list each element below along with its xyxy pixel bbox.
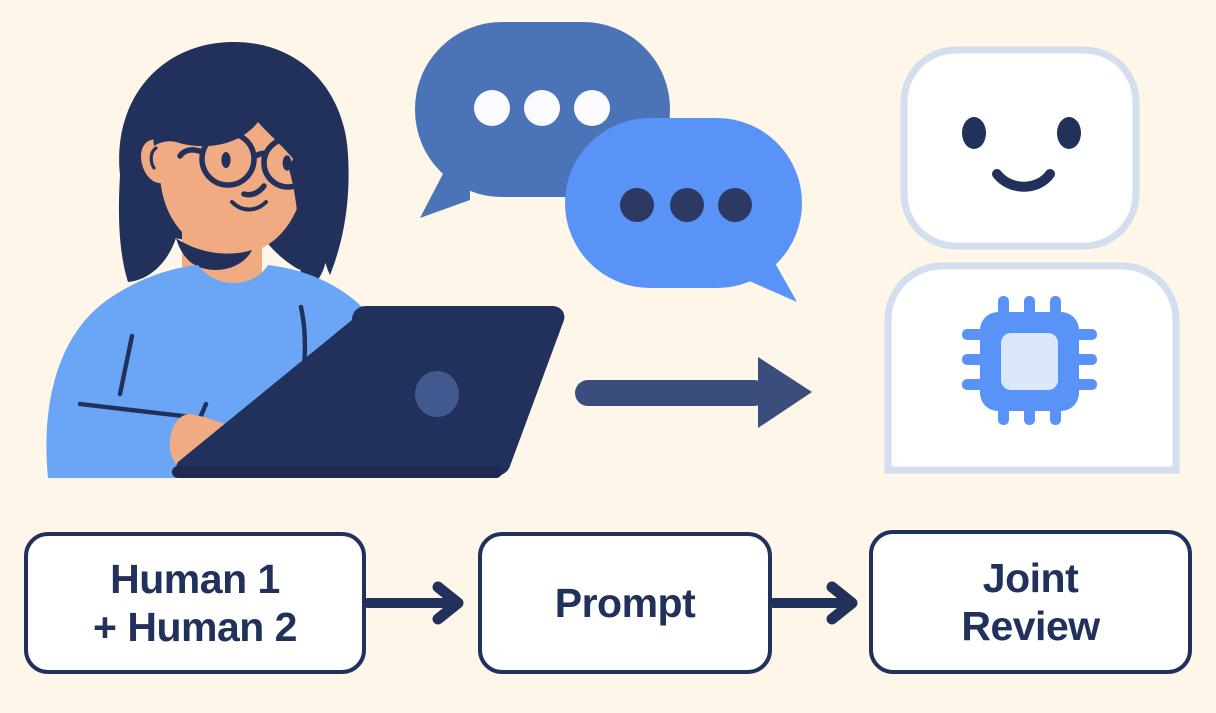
eye-right — [283, 155, 292, 170]
arrow-human-to-prompt — [366, 580, 478, 626]
flow-box-review[interactable]: Joint Review — [869, 530, 1192, 674]
flow-box-review-label: Joint Review — [961, 554, 1099, 651]
speech-dot — [670, 188, 704, 222]
arrow-shaft — [575, 380, 767, 406]
speech-dot — [524, 90, 560, 126]
laptop-base — [172, 466, 502, 478]
laptop-logo — [415, 371, 459, 417]
speech-dot — [574, 90, 610, 126]
flow-box-prompt-label: Prompt — [555, 579, 696, 627]
robot-face-card-frame — [904, 50, 1136, 246]
chip-card — [888, 266, 1176, 470]
flow-box-prompt[interactable]: Prompt — [478, 532, 772, 674]
eye-left — [221, 152, 230, 168]
flow-box-human[interactable]: Human 1 + Human 2 — [24, 532, 366, 674]
robot-eye-right — [1057, 117, 1081, 149]
arrow-prompt-to-review — [772, 580, 872, 626]
flow-diagram: Human 1 + Human 2 Prompt Joint Review — [0, 500, 1216, 713]
speech-dot — [718, 188, 752, 222]
robot-face-card — [904, 50, 1136, 246]
chip-core — [1001, 333, 1058, 390]
illustration-area — [0, 0, 1216, 500]
speech-dot — [620, 188, 654, 222]
robot-eye-left — [962, 117, 986, 149]
diagram-canvas: Human 1 + Human 2 Prompt Joint Review — [0, 0, 1216, 713]
speech-dot — [474, 90, 510, 126]
flow-box-human-label: Human 1 + Human 2 — [93, 555, 297, 652]
